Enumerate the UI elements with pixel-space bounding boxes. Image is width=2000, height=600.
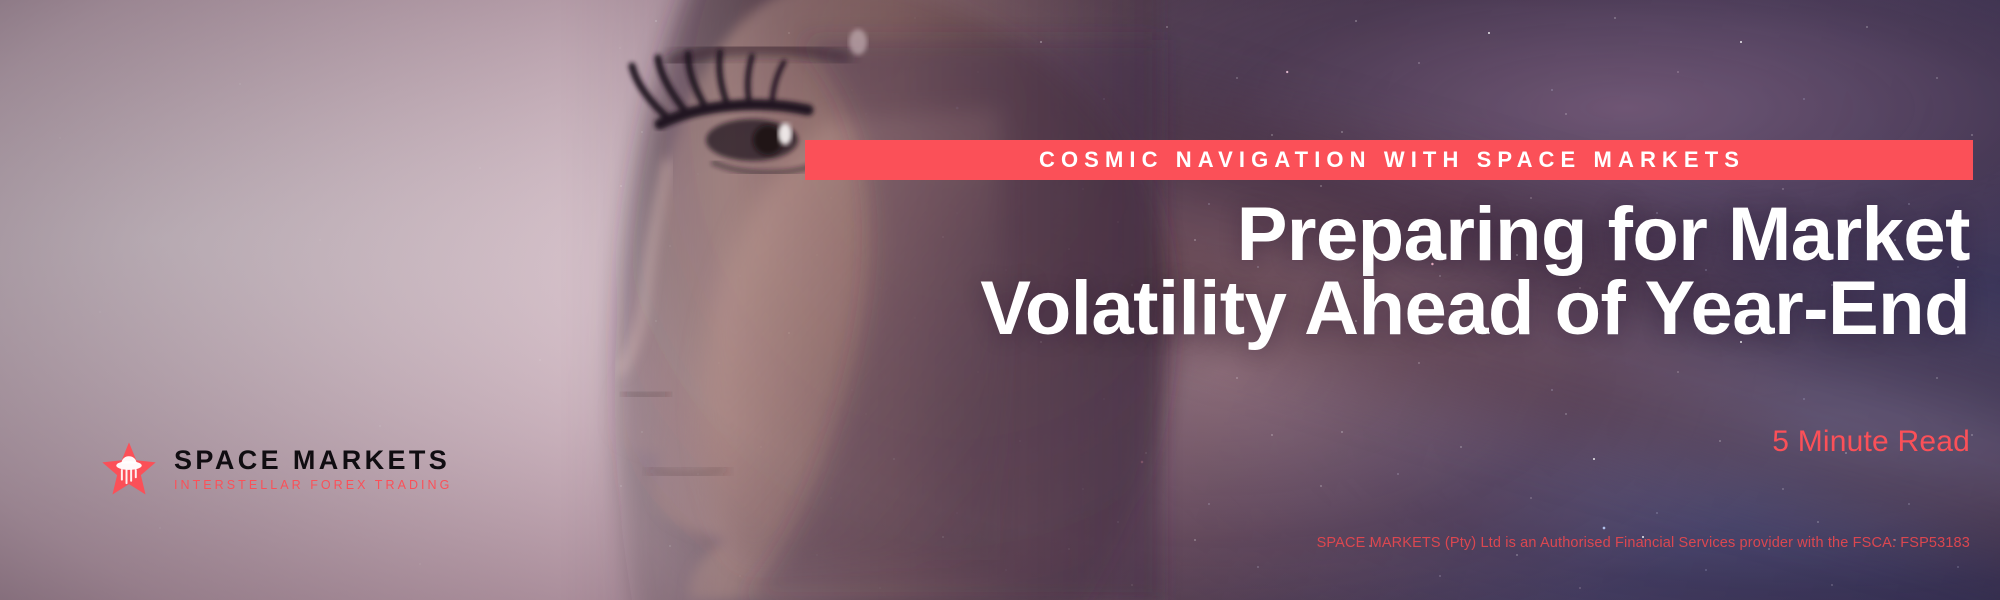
logo-wordmark: SPACE MARKETS INTERSTELLAR FOREX TRADING (174, 447, 452, 492)
article-hero-banner: COSMIC NAVIGATION WITH SPACE MARKETS Pre… (0, 0, 2000, 600)
kicker-label: COSMIC NAVIGATION WITH SPACE MARKETS (1033, 149, 1745, 171)
banner-content: COSMIC NAVIGATION WITH SPACE MARKETS Pre… (0, 0, 2000, 600)
brand-logo[interactable]: SPACE MARKETS INTERSTELLAR FOREX TRADING (100, 440, 452, 498)
logo-company-name: SPACE MARKETS (174, 447, 452, 474)
logo-tagline: INTERSTELLAR FOREX TRADING (174, 479, 452, 492)
legal-disclaimer: SPACE MARKETS (Pty) Ltd is an Authorised… (1317, 535, 1970, 551)
ufo-in-star-icon (100, 440, 158, 498)
headline-line-2: Volatility Ahead of Year-End (0, 272, 1970, 346)
page-title: Preparing for Market Volatility Ahead of… (0, 198, 1970, 347)
read-time-label: 5 Minute Read (1772, 425, 1970, 459)
kicker-ribbon: COSMIC NAVIGATION WITH SPACE MARKETS (805, 140, 1973, 180)
headline-line-1: Preparing for Market (0, 198, 1970, 272)
